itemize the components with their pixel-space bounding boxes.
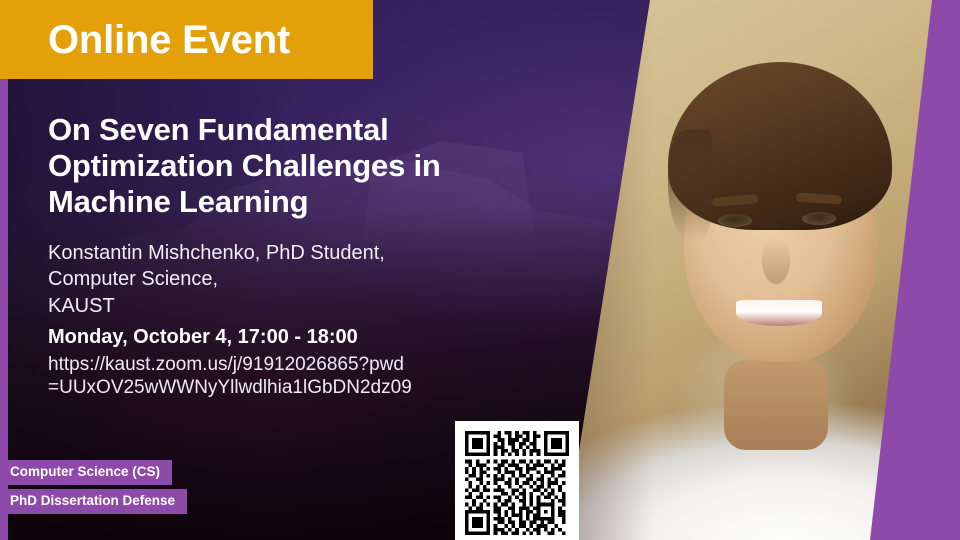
speaker-institution: KAUST: [48, 293, 518, 320]
online-event-banner: Online Event: [0, 0, 373, 79]
qr-code-panel[interactable]: [455, 421, 579, 540]
zoom-link-line-1[interactable]: https://kaust.zoom.us/j/91912026865?pwd: [48, 353, 518, 376]
speaker-department: Computer Science,: [48, 266, 518, 293]
zoom-link-line-2[interactable]: =UUxOV25wWWNyYllwdlhia1lGbDN2dz09: [48, 376, 518, 399]
speaker-name-role: Konstantin Mishchenko, PhD Student,: [48, 240, 518, 267]
event-details: On Seven Fundamental Optimization Challe…: [48, 112, 518, 399]
tag-computer-science[interactable]: Computer Science (CS): [0, 460, 172, 485]
qr-code-icon[interactable]: [465, 431, 569, 535]
event-poster: Online Event On Seven Fundamental Optimi…: [0, 0, 960, 540]
online-event-label: Online Event: [0, 20, 290, 60]
event-datetime: Monday, October 4, 17:00 - 18:00: [48, 324, 518, 351]
talk-title: On Seven Fundamental Optimization Challe…: [48, 112, 518, 220]
tag-phd-dissertation-defense[interactable]: PhD Dissertation Defense: [0, 489, 187, 514]
tag-list: Computer Science (CS) PhD Dissertation D…: [0, 460, 187, 514]
